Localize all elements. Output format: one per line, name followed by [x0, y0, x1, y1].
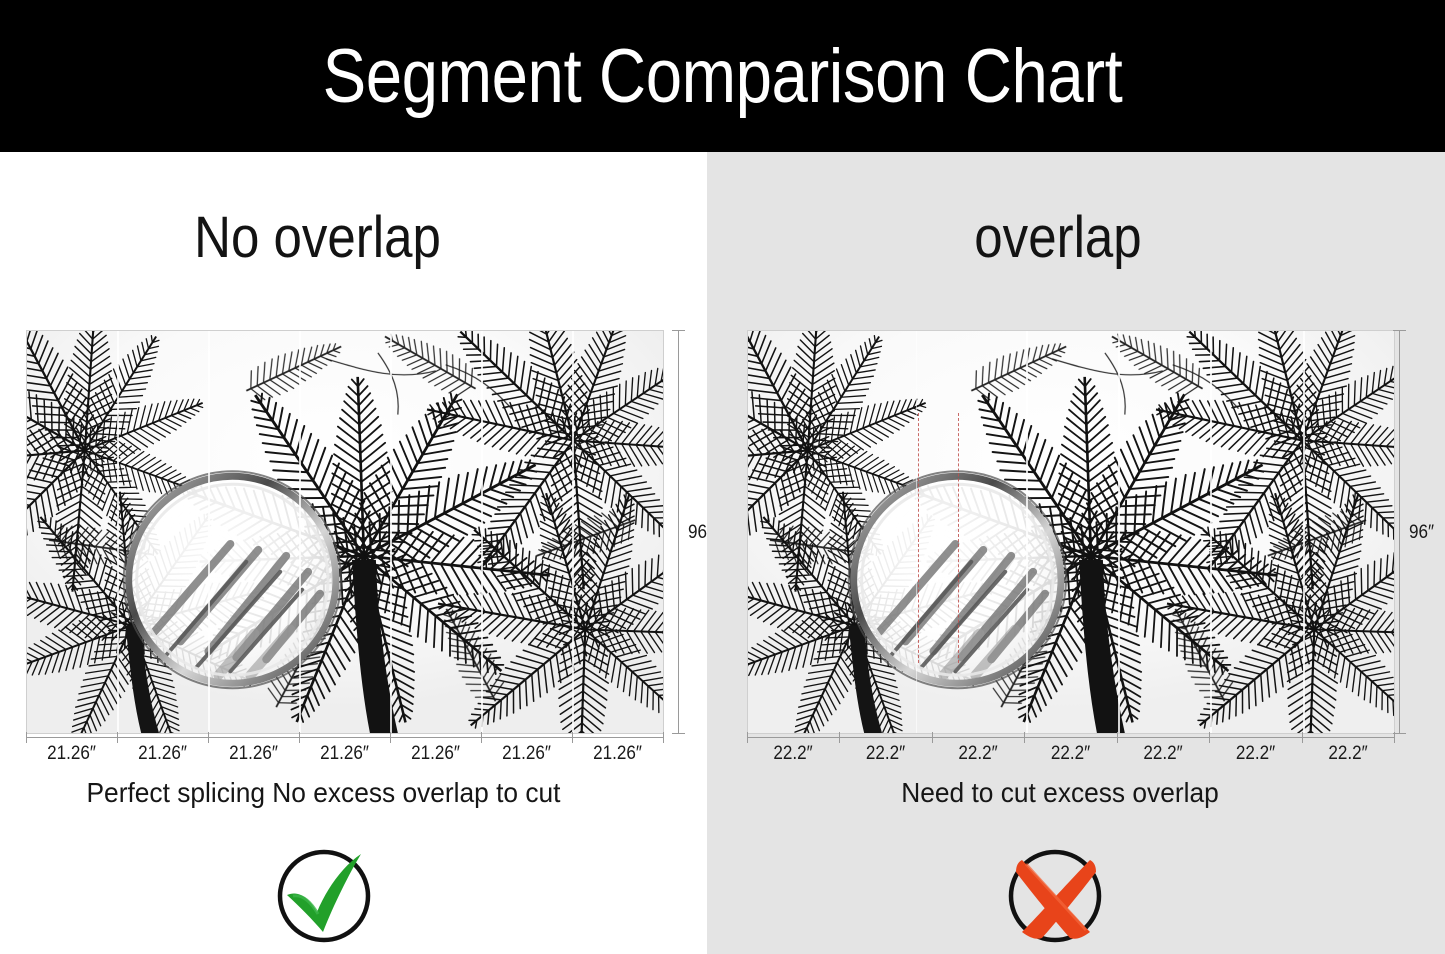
- palm-photo-no-overlap: [26, 330, 664, 734]
- ruler-tick: [1117, 732, 1118, 743]
- ruler-tick: [390, 732, 391, 743]
- panel-heading-overlap: overlap: [733, 204, 1382, 271]
- segment-label: 22.2″: [1307, 743, 1390, 765]
- segment-label: 21.26″: [395, 743, 477, 765]
- segment-label: 22.2″: [1214, 743, 1298, 765]
- segment-label: 21.26″: [577, 743, 659, 765]
- height-bracket-no-overlap: [678, 330, 679, 734]
- ruler-line: [747, 737, 1395, 738]
- caption-no-overlap: Perfect splicing No excess overlap to cu…: [0, 777, 656, 809]
- verdict-cross-icon: [1000, 840, 1110, 950]
- ruler-tick: [1302, 732, 1303, 743]
- segment-label: 22.2″: [1029, 743, 1113, 765]
- ruler-tick: [26, 732, 27, 743]
- segment-label: 21.26″: [213, 743, 295, 765]
- panel-no-overlap: No overlap: [0, 152, 707, 954]
- ruler-tick: [1024, 732, 1025, 743]
- ruler-tick: [208, 732, 209, 743]
- ruler-tick: [299, 732, 300, 743]
- panel-overlap: overlap: [707, 152, 1445, 954]
- ruler-tick: [1209, 732, 1210, 743]
- palm-photo-overlap: [747, 330, 1395, 734]
- segment-label: 22.2″: [937, 743, 1020, 765]
- ruler-tick: [747, 732, 748, 743]
- panel-heading-no-overlap: No overlap: [6, 204, 628, 271]
- page-title: Segment Comparison Chart: [101, 0, 1344, 152]
- ruler-tick: [117, 732, 118, 743]
- segment-label: 22.2″: [844, 743, 928, 765]
- segment-label: 22.2″: [1122, 743, 1205, 765]
- segment-label: 21.26″: [304, 743, 386, 765]
- ruler-tick: [839, 732, 840, 743]
- caption-overlap: Need to cut excess overlap: [713, 777, 1407, 809]
- verdict-check-icon: [269, 840, 379, 950]
- segment-label: 22.2″: [752, 743, 835, 765]
- ruler-tick: [572, 732, 573, 743]
- ruler-tick: [1394, 732, 1395, 743]
- segment-ruler-overlap: 22.2″ 22.2″ 22.2″ 22.2″ 22.2″ 22.2″ 22.2…: [747, 737, 1395, 771]
- figure-no-overlap: 96″ 21.26″ 21.26″ 21.26″ 21.26″ 21.26″ 2…: [26, 330, 664, 734]
- segment-label: 21.26″: [122, 743, 204, 765]
- segment-ruler-no-overlap: 21.26″ 21.26″ 21.26″ 21.26″ 21.26″ 21.26…: [26, 737, 664, 771]
- figure-overlap: 96″ 22.2″ 22.2″ 22.2″ 22.2″ 22.2″ 22.2″ …: [747, 330, 1395, 734]
- segment-comparison-chart: Segment Comparison Chart No overlap: [0, 0, 1445, 954]
- title-banner: Segment Comparison Chart: [0, 0, 1445, 152]
- height-label-overlap: 96″: [1409, 522, 1434, 544]
- height-bracket-overlap: [1399, 330, 1400, 734]
- ruler-tick: [932, 732, 933, 743]
- ruler-tick: [481, 732, 482, 743]
- ruler-line: [26, 737, 664, 738]
- segment-label: 21.26″: [486, 743, 568, 765]
- segment-label: 21.26″: [31, 743, 113, 765]
- ruler-tick: [663, 732, 664, 743]
